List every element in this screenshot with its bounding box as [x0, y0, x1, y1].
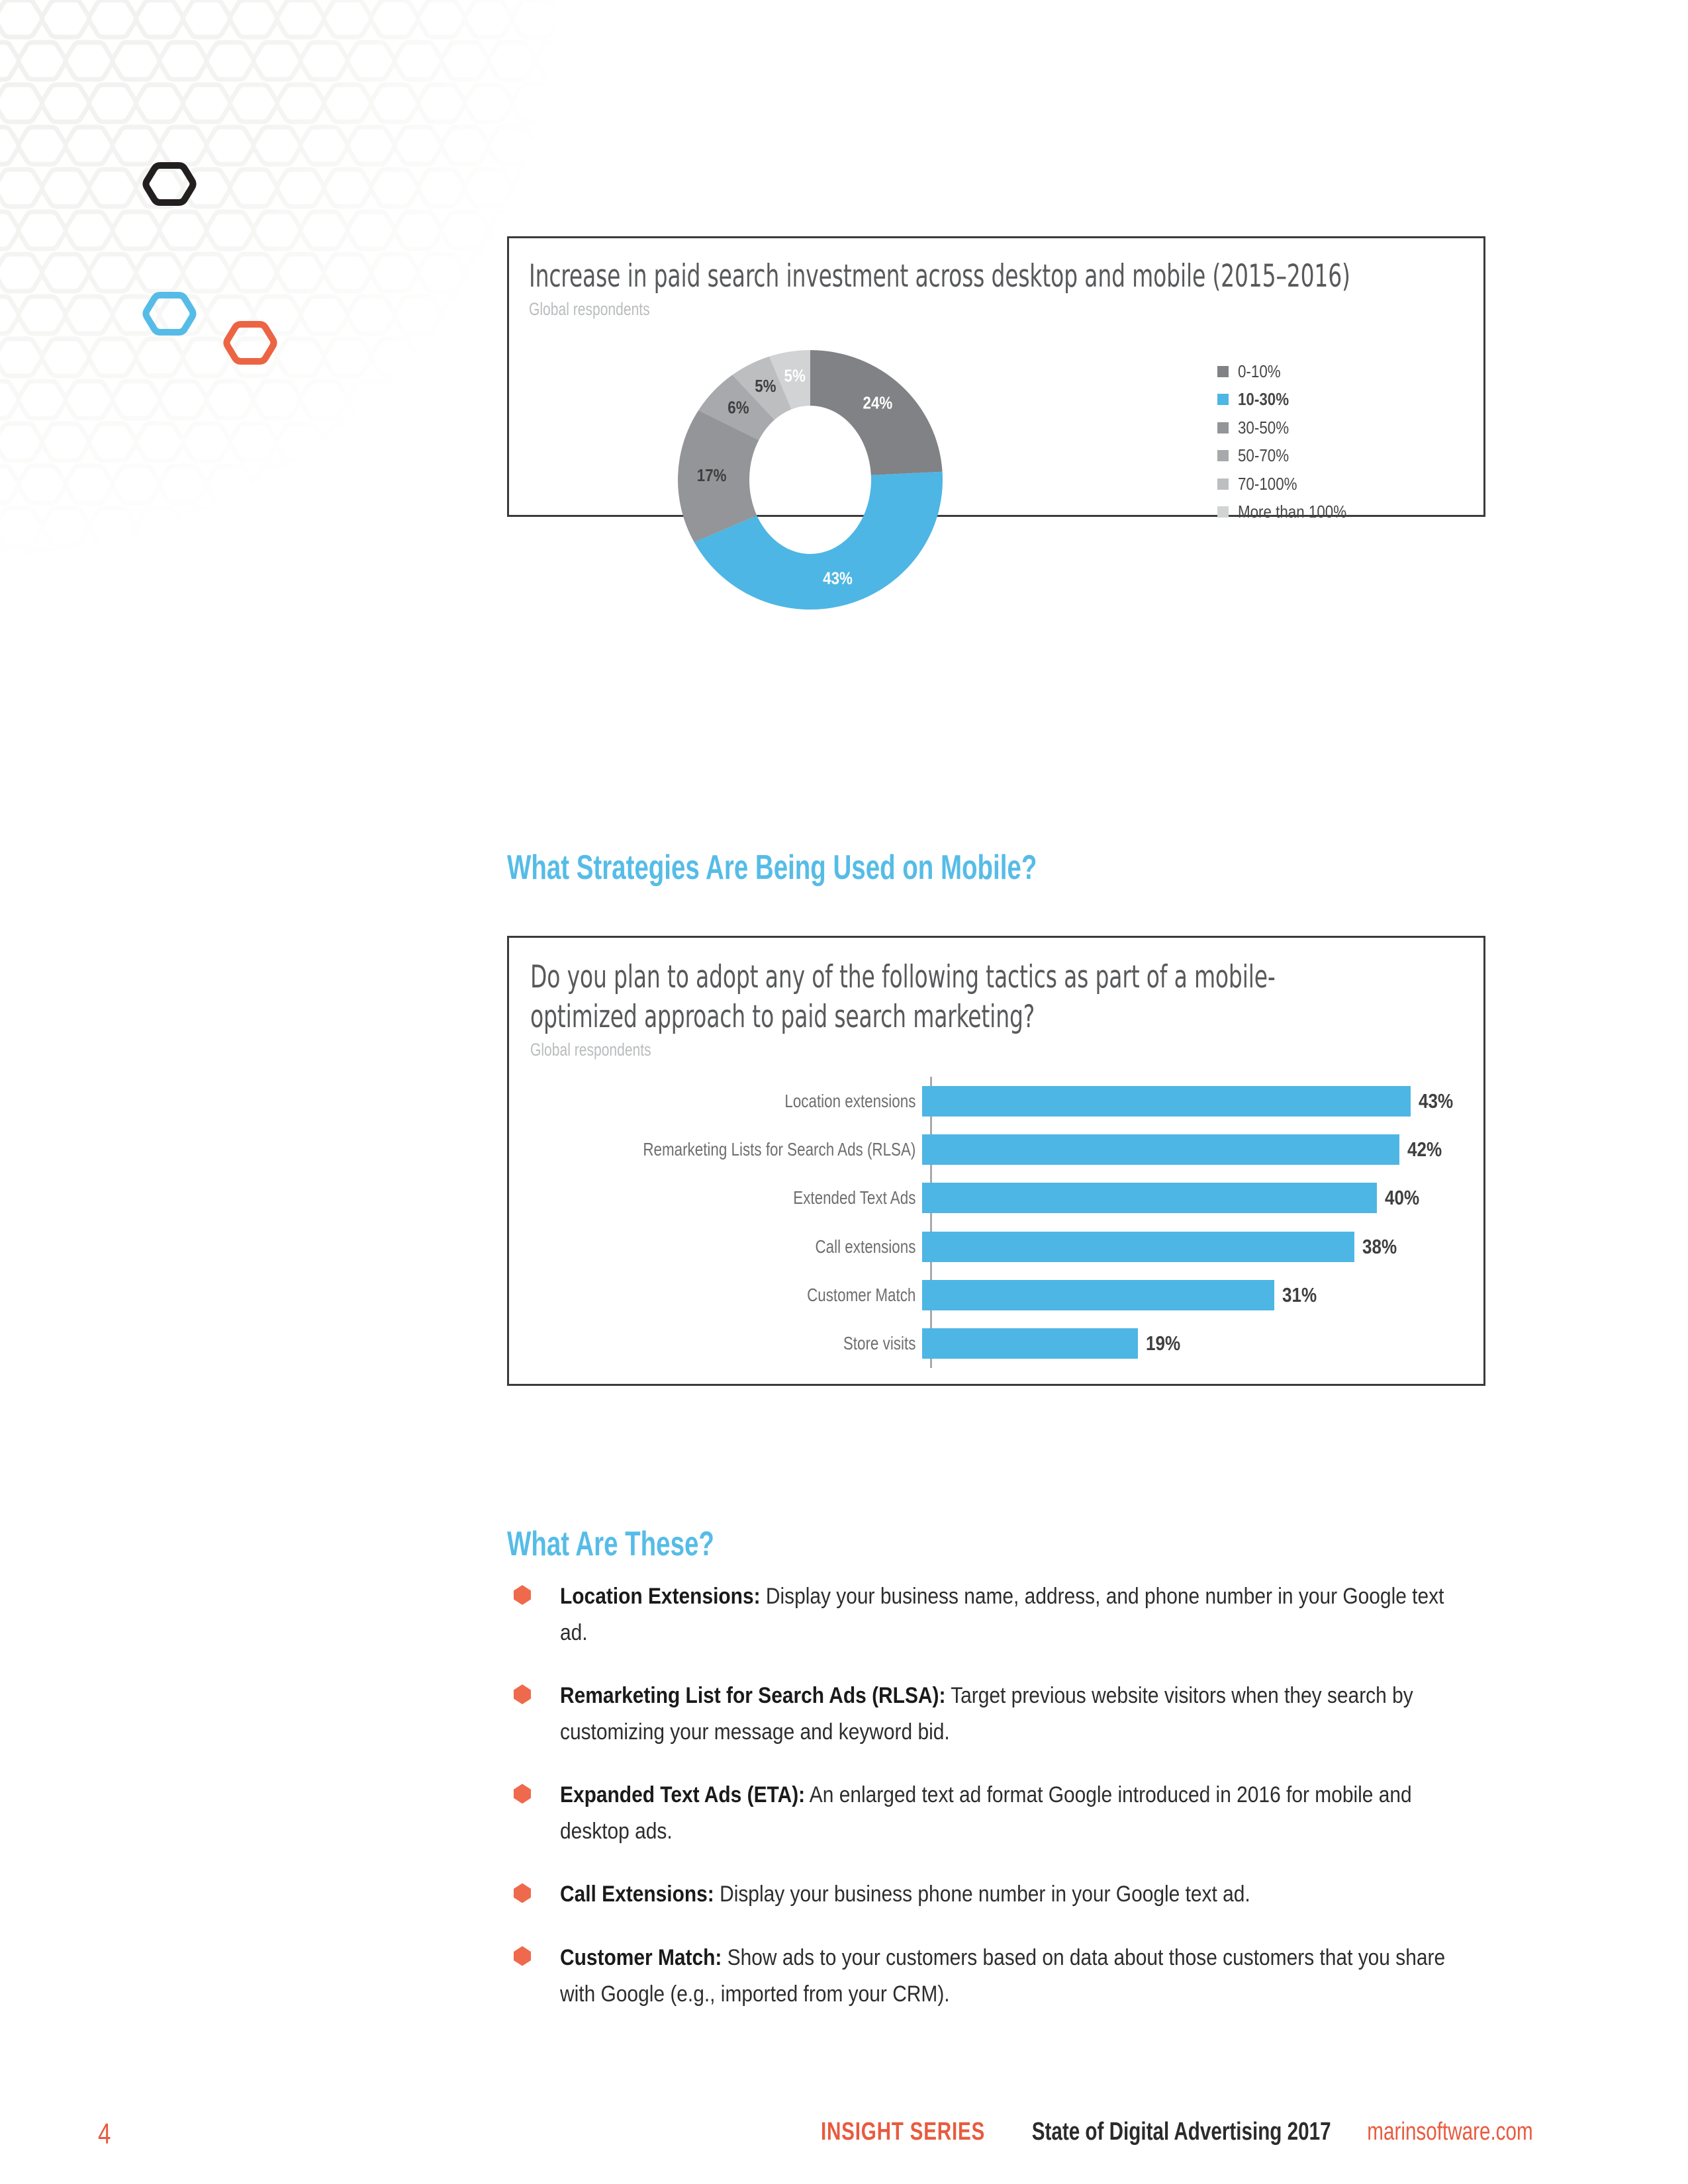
definition-text: Remarketing List for Search Ads (RLSA): … [560, 1678, 1447, 1751]
definition-term: Customer Match: [560, 1945, 722, 1970]
bar-chart-title-line2: optimized approach to paid search market… [530, 999, 1035, 1035]
bar-fill[interactable] [922, 1328, 1138, 1359]
donut-slice-label: 5% [784, 367, 806, 386]
bar-value-label: 42% [1407, 1138, 1442, 1161]
footer-center-group: INSIGHT SERIES State of Digital Advertis… [798, 2118, 1556, 2146]
hexagon-bullet-icon [514, 1946, 531, 1966]
bar-fill[interactable] [922, 1232, 1354, 1262]
hexagon-bullet-icon [514, 1585, 531, 1605]
legend-color-swatch [1217, 394, 1229, 405]
footer-insight-series-label: INSIGHT SERIES [821, 2118, 985, 2146]
section-heading-strategies: What Strategies Are Being Used on Mobile… [507, 848, 1037, 887]
donut-chart-legend: 0-10%10-30%30-50%50-70%70-100%More than … [1217, 357, 1364, 526]
definition-text: Expanded Text Ads (ETA): An enlarged tex… [560, 1777, 1447, 1850]
hexagon-pattern-decoration [0, 0, 596, 728]
bar-chart-title-line1: Do you plan to adopt any of the followin… [530, 959, 1276, 995]
definition-item: Expanded Text Ads (ETA): An enlarged tex… [507, 1777, 1447, 1850]
definition-item: Customer Match: Show ads to your custome… [507, 1940, 1447, 2013]
bar-chart-plot: Location extensions43%Remarketing Lists … [530, 1077, 1465, 1368]
donut-chart-title: Increase in paid search investment acros… [529, 258, 1350, 295]
bar-value-label: 43% [1419, 1089, 1453, 1113]
bar-chart-row: Store visits19% [530, 1320, 1465, 1368]
donut-legend-item[interactable]: 10-30% [1217, 386, 1364, 414]
donut-chart-subtitle: Global respondents [529, 299, 650, 320]
donut-slice-label: 6% [727, 398, 749, 418]
definition-text: Customer Match: Show ads to your custome… [560, 1940, 1447, 2013]
bar-value-group: 31% [922, 1280, 1323, 1310]
donut-slice-label: 17% [697, 466, 727, 485]
bar-chart-card: Do you plan to adopt any of the followin… [507, 936, 1485, 1386]
definitions-list: Location Extensions: Display your busine… [507, 1578, 1447, 2039]
hexagon-highlight-blue [146, 295, 193, 332]
definition-term: Location Extensions: [560, 1584, 761, 1609]
donut-legend-item[interactable]: 50-70% [1217, 442, 1364, 471]
bar-value-group: 40% [922, 1183, 1426, 1213]
donut-chart-card: Increase in paid search investment acros… [507, 236, 1485, 517]
definition-term: Expanded Text Ads (ETA): [560, 1782, 805, 1807]
hexagon-bullet-icon [514, 1684, 531, 1704]
bar-fill[interactable] [922, 1280, 1274, 1310]
bar-fill[interactable] [922, 1183, 1377, 1213]
bar-chart-row: Location extensions43% [530, 1077, 1465, 1125]
legend-item-label: 70-100% [1238, 474, 1297, 494]
donut-slice-label: 43% [823, 569, 853, 588]
bar-value-group: 19% [922, 1328, 1187, 1359]
bar-category-label: Call extensions [608, 1236, 922, 1257]
bar-chart-row: Extended Text Ads40% [530, 1174, 1465, 1222]
legend-color-swatch [1217, 422, 1229, 433]
section-heading-what-are-these: What Are These? [507, 1524, 714, 1564]
bar-category-label: Store visits [608, 1333, 922, 1354]
bar-value-label: 40% [1385, 1186, 1419, 1210]
legend-item-label: 0-10% [1238, 361, 1281, 382]
hexagon-highlight-black [146, 165, 193, 203]
bar-category-label: Location extensions [608, 1091, 922, 1112]
legend-item-label: 50-70% [1238, 445, 1289, 466]
bar-value-label: 38% [1362, 1235, 1397, 1259]
bar-fill[interactable] [922, 1086, 1411, 1116]
bar-chart-row: Remarketing Lists for Search Ads (RLSA)4… [530, 1125, 1465, 1173]
page-footer: 4 INSIGHT SERIES State of Digital Advert… [0, 2098, 1688, 2184]
donut-legend-item[interactable]: 30-50% [1217, 414, 1364, 442]
definition-item: Remarketing List for Search Ads (RLSA): … [507, 1678, 1447, 1751]
definition-item: Location Extensions: Display your busine… [507, 1578, 1447, 1651]
hexagon-bullet-icon [514, 1784, 531, 1803]
bar-chart-row: Customer Match31% [530, 1271, 1465, 1319]
legend-color-swatch [1217, 450, 1229, 461]
legend-item-label: 10-30% [1238, 389, 1289, 410]
legend-color-swatch [1217, 366, 1229, 377]
donut-legend-item[interactable]: 0-10% [1217, 357, 1364, 386]
bar-value-group: 38% [922, 1232, 1403, 1262]
legend-item-label: 30-50% [1238, 418, 1289, 438]
bar-value-group: 42% [922, 1134, 1448, 1165]
donut-chart-graphic: 24%43%17%6%5%5% [665, 341, 956, 619]
legend-color-swatch [1217, 478, 1229, 490]
page-number: 4 [98, 2118, 111, 2151]
footer-report-title: State of Digital Advertising 2017 [1032, 2118, 1331, 2146]
bar-value-group: 43% [922, 1086, 1460, 1116]
hexagon-highlight-orange [227, 324, 274, 361]
document-page: Increase in paid search investment acros… [0, 0, 1688, 2184]
donut-legend-item[interactable]: 70-100% [1217, 470, 1364, 498]
bar-chart-row: Call extensions38% [530, 1222, 1465, 1271]
donut-legend-item[interactable]: More than 100% [1217, 498, 1364, 527]
bar-category-label: Extended Text Ads [608, 1187, 922, 1208]
bar-chart-subtitle: Global respondents [530, 1040, 651, 1060]
bar-value-label: 31% [1282, 1283, 1317, 1307]
legend-item-label: More than 100% [1238, 502, 1346, 522]
footer-website-link[interactable]: marinsoftware.com [1368, 2118, 1533, 2146]
legend-color-swatch [1217, 506, 1229, 518]
bar-category-label: Remarketing Lists for Search Ads (RLSA) [608, 1139, 922, 1160]
definition-term: Remarketing List for Search Ads (RLSA): [560, 1683, 945, 1708]
definition-term: Call Extensions: [560, 1882, 714, 1907]
definition-text: Location Extensions: Display your busine… [560, 1578, 1447, 1651]
donut-slice-label: 5% [755, 377, 776, 396]
donut-slice-label: 24% [863, 394, 893, 413]
bar-value-label: 19% [1146, 1332, 1180, 1355]
bar-category-label: Customer Match [608, 1285, 922, 1306]
definition-text: Call Extensions: Display your business p… [560, 1876, 1447, 1913]
definition-item: Call Extensions: Display your business p… [507, 1876, 1447, 1913]
hexagon-bullet-icon [514, 1883, 531, 1903]
bar-fill[interactable] [922, 1134, 1399, 1165]
